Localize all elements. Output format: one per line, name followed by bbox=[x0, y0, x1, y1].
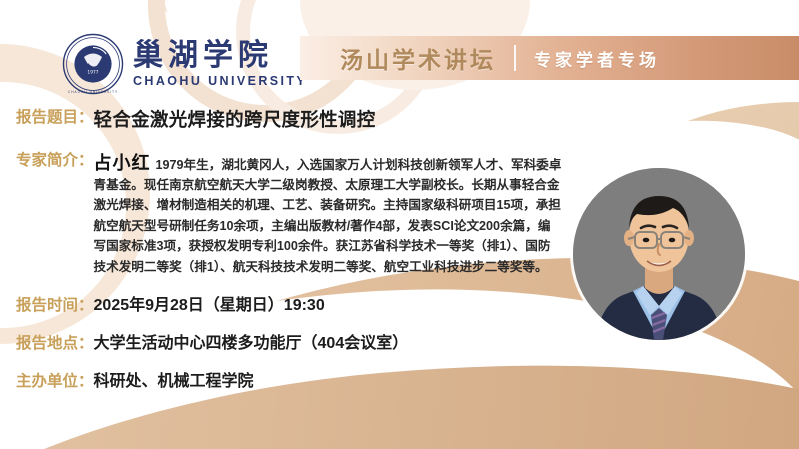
svg-text:CHAOHU UNIVERSITY: CHAOHU UNIVERSITY bbox=[68, 90, 118, 94]
forum-banner-subtitle: 专家学者专场 bbox=[534, 46, 660, 71]
university-name-en: CHAOHU UNIVERSITY bbox=[133, 74, 307, 88]
speaker-name: 占小红 bbox=[94, 153, 151, 173]
lecture-time-label: 报告时间： bbox=[16, 294, 94, 318]
speaker-bio-body: 占小红1979年生，湖北黄冈人，入选国家万人计划科技创新领军人才、军科委卓青基金… bbox=[94, 149, 562, 277]
forum-banner: 汤山学术讲坛 专家学者专场 bbox=[300, 36, 799, 80]
university-name-cn: 巢湖学院 bbox=[133, 40, 307, 72]
poster-root: 1977 CHAOHU UNIVERSITY 巢湖学院 CHAOHU UNIVE… bbox=[0, 0, 799, 449]
forum-banner-divider bbox=[514, 45, 516, 71]
svg-text:1977: 1977 bbox=[87, 70, 98, 76]
university-identity: 1977 CHAOHU UNIVERSITY 巢湖学院 CHAOHU UNIVE… bbox=[62, 33, 307, 95]
lecture-title-row: 报告题目： 轻合金激光焊接的跨尺度形性调控 bbox=[0, 106, 799, 135]
lecture-place-value: 大学生活动中心四楼多功能厅（404会议室） bbox=[94, 332, 409, 357]
poster-header: 1977 CHAOHU UNIVERSITY 巢湖学院 CHAOHU UNIVE… bbox=[0, 0, 799, 104]
speaker-bio-text: 1979年生，湖北黄冈人，入选国家万人计划科技创新领军人才、军科委卓青基金。现任… bbox=[94, 158, 562, 274]
lecture-time-value: 2025年9月28日（星期日）19:30 bbox=[94, 294, 325, 319]
lecture-host-label: 主办单位： bbox=[16, 370, 94, 394]
speaker-bio-label: 专家简介： bbox=[16, 149, 94, 173]
university-name-block: 巢湖学院 CHAOHU UNIVERSITY bbox=[133, 40, 307, 88]
lecture-host-row: 主办单位： 科研处、机械工程学院 bbox=[0, 370, 799, 395]
lecture-title-label: 报告题目： bbox=[16, 106, 94, 130]
lecture-title-value: 轻合金激光焊接的跨尺度形性调控 bbox=[94, 106, 376, 135]
forum-banner-title: 汤山学术讲坛 bbox=[340, 41, 496, 75]
university-seal-icon: 1977 CHAOHU UNIVERSITY bbox=[62, 33, 124, 95]
lecture-place-label: 报告地点： bbox=[16, 332, 94, 356]
lecture-host-value: 科研处、机械工程学院 bbox=[94, 370, 254, 395]
speaker-portrait bbox=[573, 168, 745, 340]
